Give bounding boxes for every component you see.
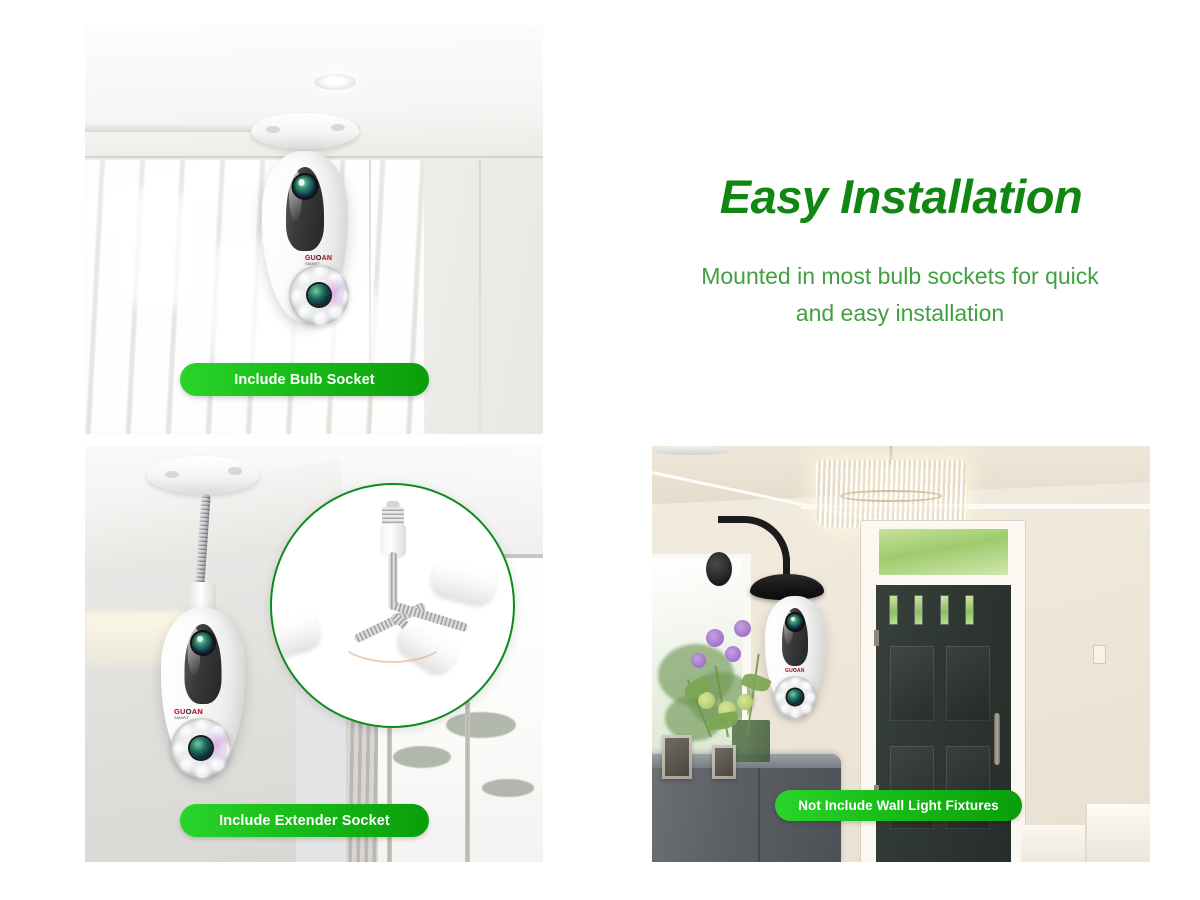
purple-allium <box>725 646 741 662</box>
picture-frame <box>662 735 692 779</box>
flexible-gooseneck-extender <box>195 494 210 586</box>
ir-camera-lens <box>308 284 330 306</box>
light-patch <box>112 189 202 309</box>
bulb-security-camera-extender: GUOANSMART <box>123 456 283 796</box>
door-glass-pane <box>941 596 948 624</box>
panel-not-include-wall-light-fixtures: GUOAN <box>652 446 1150 862</box>
wire-arc <box>337 610 448 663</box>
badge-include-bulb-socket[interactable]: Include Bulb Socket <box>180 363 429 396</box>
ir-led-ring <box>289 265 349 325</box>
ir-led <box>806 693 815 702</box>
ir-led <box>802 704 811 713</box>
socket-head-right <box>428 560 498 608</box>
ir-led <box>181 726 194 739</box>
tree-branch <box>393 746 451 768</box>
ir-led <box>314 312 327 325</box>
sconce-shade-rim <box>652 446 730 455</box>
panel-include-extender-socket: GUOANSMART Include Extender Socket <box>85 446 543 862</box>
leaf <box>740 670 772 694</box>
bulb-security-camera: GUOANSMART <box>235 113 375 363</box>
ir-led <box>174 743 187 756</box>
recessed-downlight <box>314 74 356 90</box>
door-handle[interactable] <box>994 713 1000 765</box>
ir-led <box>292 290 305 303</box>
camera-lens <box>192 632 214 654</box>
entry-step <box>1085 804 1150 862</box>
mount-screw <box>266 126 280 133</box>
ir-led <box>791 678 800 687</box>
green-bloom <box>737 694 753 710</box>
photo <box>665 738 689 776</box>
transom-window <box>879 529 1008 575</box>
socket-head-left <box>270 612 323 662</box>
door-glass-pane <box>915 596 922 624</box>
ceiling-mount-plate <box>147 456 259 494</box>
camera-lens <box>294 175 317 198</box>
subtitle-line-1: Mounted in most bulb sockets for quick <box>600 258 1200 295</box>
inset-extender-socket-closeup <box>270 483 515 728</box>
ir-led-ring <box>171 718 231 778</box>
badge-label: Not Include Wall Light Fixtures <box>798 798 999 813</box>
subtitle-line-2: and easy installation <box>600 295 1200 332</box>
ir-led <box>196 765 209 778</box>
door-hinge <box>874 630 879 646</box>
picture-frame <box>712 745 736 779</box>
flower-bouquet <box>672 617 792 737</box>
badge-not-include-wall-light-fixtures[interactable]: Not Include Wall Light Fixtures <box>775 790 1022 821</box>
chandelier-ring <box>840 490 942 502</box>
badge-include-extender-socket[interactable]: Include Extender Socket <box>180 804 429 837</box>
ir-led <box>181 758 194 771</box>
ir-led <box>299 305 312 318</box>
photo <box>715 748 733 776</box>
wall-seam <box>479 156 481 434</box>
door-panel <box>890 646 934 721</box>
tree-branch <box>482 779 534 797</box>
door-panel <box>946 646 990 721</box>
light-switch[interactable] <box>1094 646 1105 663</box>
panel-include-bulb-socket: GUOANSMART Include Bulb Socket <box>85 25 543 434</box>
leaf <box>707 711 739 731</box>
purple-allium <box>734 620 751 637</box>
console-drawer-seam <box>758 768 760 862</box>
mount-screw <box>228 467 243 474</box>
page-headline: Easy Installation <box>652 172 1150 221</box>
door-glass-pane <box>966 596 973 624</box>
ir-led <box>802 682 811 691</box>
mount-screw <box>165 471 180 478</box>
purple-allium <box>706 629 724 647</box>
ir-led <box>299 273 312 286</box>
tree-branch <box>446 712 516 738</box>
badge-label: Include Extender Socket <box>219 813 390 829</box>
mount-screw <box>331 124 345 131</box>
page-subtitle: Mounted in most bulb sockets for quick a… <box>600 258 1200 333</box>
ir-led <box>791 709 800 718</box>
ir-camera-lens <box>190 737 212 759</box>
door-glass-pane <box>890 596 897 624</box>
ceiling-mount-plate <box>251 113 359 149</box>
purple-allium <box>691 653 706 668</box>
badge-label: Include Bulb Socket <box>234 372 374 388</box>
